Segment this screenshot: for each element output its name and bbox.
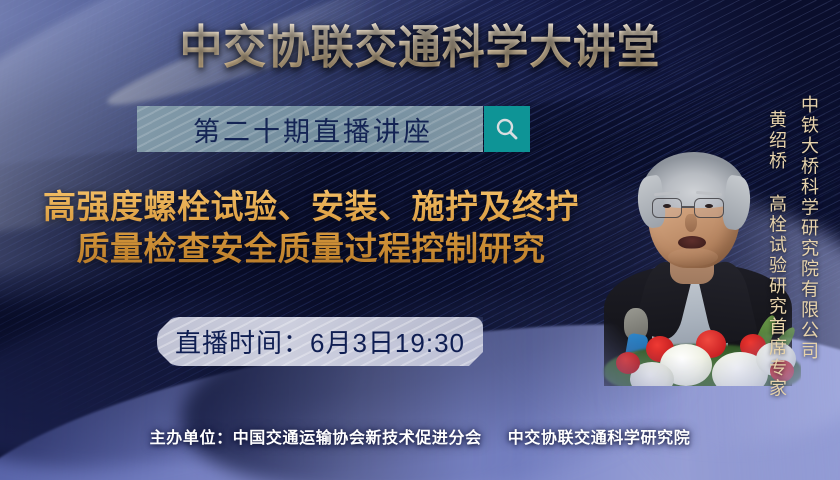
series-label: 第二十期直播讲座 — [187, 110, 433, 149]
speaker-nose — [685, 214, 697, 232]
footer-organizers: 主办单位：中国交通运输协会新技术促进分会中交协联交通科学研究院 — [0, 424, 840, 448]
search-icon — [494, 116, 520, 142]
footer-prefix: 主办单位： — [150, 430, 233, 447]
lecture-topic-line2: 质量检查安全质量过程控制研究 — [16, 228, 606, 270]
search-button[interactable] — [484, 106, 530, 152]
lecture-topic: 高强度螺栓试验、安装、施拧及终拧 质量检查安全质量过程控制研究 — [16, 186, 606, 270]
glasses-lens-left — [652, 198, 682, 218]
speaker-organization: 中铁大桥科学研究院有限公司 — [796, 95, 822, 362]
glasses-lens-right — [694, 198, 724, 218]
footer-org-1: 中国交通运输协会新技术促进分会 — [233, 430, 482, 447]
live-stream-poster: 中交协联交通科学大讲堂 第二十期直播讲座 高强度螺栓试验、安装、施拧及终拧 质量… — [0, 0, 840, 480]
speaker-name-title: 黄绍桥 高栓试验研究首席专家 — [764, 110, 790, 399]
speaker-chin — [668, 248, 718, 266]
glasses-bridge — [682, 206, 694, 208]
speaker-eye-right — [705, 204, 713, 208]
schedule-badge: 直播时间：6月3日19:30 — [157, 317, 483, 366]
bouquet-carnation-4 — [616, 352, 640, 374]
series-badge: 第二十期直播讲座 — [137, 106, 483, 152]
schedule-label: 直播时间：6月3日19:30 — [175, 323, 465, 360]
page-title: 中交协联交通科学大讲堂 — [29, 21, 810, 73]
lecture-topic-line1: 高强度螺栓试验、安装、施拧及终拧 — [43, 188, 579, 225]
speaker-eye-left — [663, 204, 671, 208]
footer-org-2: 中交协联交通科学研究院 — [508, 430, 691, 447]
